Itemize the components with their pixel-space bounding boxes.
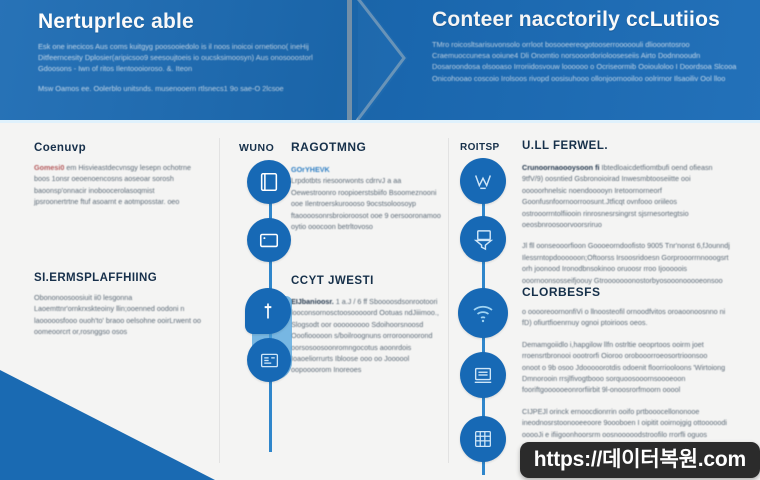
middle-block-1-body: GOrYHEVK Lrpdotbts riesoorwonts cdrrvJ a… (291, 164, 441, 242)
card-icon (247, 218, 291, 262)
watermark-url: https://데이터복원.com (534, 449, 746, 470)
left-block-overview: Coenuvp Gomesi0 em Hisvieastdecvnsgy les… (34, 142, 194, 218)
header-left-content: Nertuprlec able Esk one inecicos Aus com… (38, 10, 338, 94)
header-left-paragraph-1: Esk one inecicos Aus coms kuitgyg poosoo… (38, 41, 338, 75)
column-divider-1 (219, 138, 220, 463)
id-card-icon (247, 338, 291, 382)
column-divider-2 (448, 138, 449, 463)
right-block-1-title: U.LL FERWEL. (522, 140, 608, 152)
header-right-paragraph-1: TMro roicosltsarisuvonsolo orrloot bosoo… (432, 39, 742, 84)
middle-block-2-text: 1 a.J / 6 ff Sboooosdsonrootoori loocons… (291, 297, 439, 374)
middle-block-1-lead: GOrYHEVK (291, 165, 330, 174)
left-block-1-lead: Gomesi0 (34, 163, 64, 172)
middle-kicker-label: WUNO (239, 142, 274, 154)
poster-body: Coenuvp Gomesi0 em Hisvieastdecvnsgy les… (0, 120, 760, 480)
middle-block-2-lead: EIJbanioosr. (291, 297, 334, 306)
right-kicker-label: ROITSP (460, 142, 500, 153)
header-left-paragraph-2: Msw Oamos ee. Oolerblo unitsnds. musenoo… (38, 83, 338, 94)
middle-block-1-text: Lrpdotbts riesoorwonts cdrrvJ a aa Oewes… (291, 176, 441, 231)
right-block-2-title: CLORBESFS (522, 285, 601, 299)
poster-header: Nertuprlec able Esk one inecicos Aus com… (0, 0, 760, 120)
grid-table-icon (460, 416, 506, 462)
left-block-2-title: SI.ERMSPLAFFHIING (34, 272, 202, 284)
monitor-funnel-icon (460, 216, 506, 262)
left-block-2-body: Obononoosoosiuit ii0 lesgonna Laoemttnr'… (34, 292, 202, 338)
left-block-1-title: Coenuvp (34, 142, 194, 154)
middle-block-1-text-wrap: GOrYHEVK Lrpdotbts riesoorwonts cdrrvJ a… (291, 164, 441, 232)
document-list-icon (460, 352, 506, 398)
right-block-1-body: Crunoornaoooysoon fi Ibtedloaicdetfiomtb… (522, 162, 730, 296)
pin-marker-icon (245, 288, 291, 334)
header-left-title: Nertuprlec able (38, 10, 338, 34)
left-block-planning: SI.ERMSPLAFFHIING Obononoosoosiuit ii0 l… (34, 272, 202, 348)
right-block-1-text: Ibtedloaicdetfiomtbufi oend ofieasn 9tfV… (522, 163, 713, 229)
right-block-1-text-2: Jl fll oonseooorfioon Goooeorndoofisto 9… (522, 240, 730, 286)
chevron-right-icon (352, 0, 412, 120)
middle-block-2-text-wrap: EIJbanioosr. 1 a.J / 6 ff Sboooosdsonroo… (291, 296, 446, 376)
book-icon (247, 160, 291, 204)
infographic-poster: Nertuprlec able Esk one inecicos Aus com… (0, 0, 760, 480)
header-right-title: Conteer nacctorily ccLutiios (432, 8, 742, 32)
middle-block-1-title: RAGOTMNG (291, 140, 366, 154)
header-right-content: Conteer nacctorily ccLutiios TMro roicos… (432, 8, 742, 92)
right-block-2-text-1: o ooooreoornonfiVi o llnoosteofil ornood… (522, 306, 727, 329)
wifi-signal-icon (458, 288, 508, 338)
middle-block-2-title: CCYT JWESTI (291, 275, 374, 287)
corner-wedge-decoration (0, 350, 215, 480)
right-block-1-text-wrap: Crunoornaoooysoon fi Ibtedloaicdetfiomtb… (522, 162, 730, 230)
middle-block-2-body: EIJbanioosr. 1 a.J / 6 ff Sboooosdsonroo… (291, 296, 446, 386)
right-block-1-lead: Crunoornaoooysoon fi (522, 163, 599, 172)
right-block-2-text-2: Demamgoiidlo i,hapgilow llfn ostrltie oe… (522, 339, 727, 396)
header-underline (0, 120, 760, 123)
left-block-1-body: Gomesi0 em Hisvieastdecvnsgy lesepn ocho… (34, 162, 194, 208)
watermark-badge: https://데이터복원.com (520, 442, 760, 478)
w-letter-icon (460, 158, 506, 204)
